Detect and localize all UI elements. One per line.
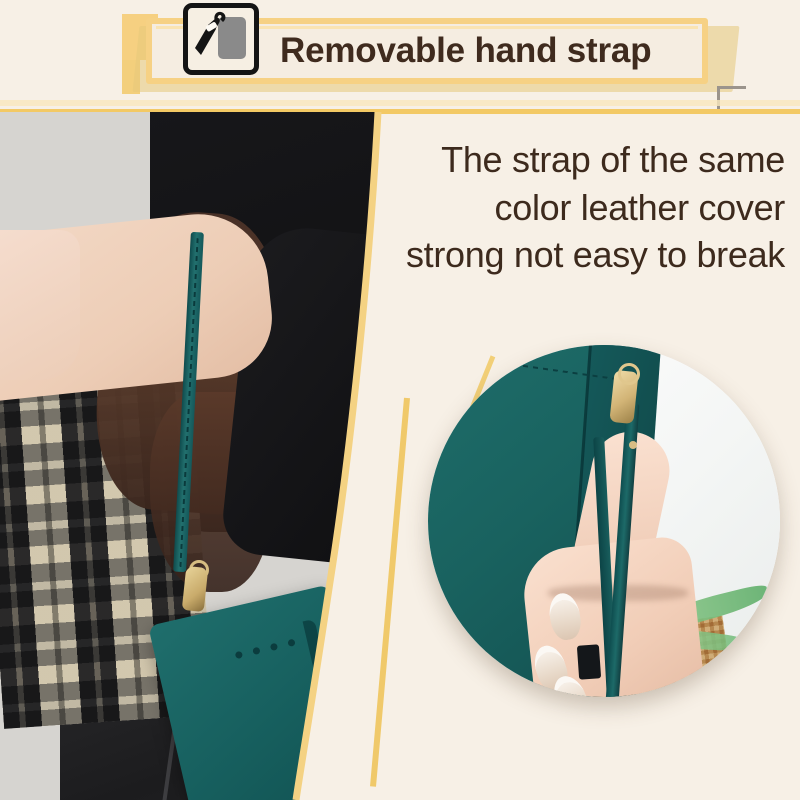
banner-title: Removable hand strap <box>280 20 700 82</box>
corner-bracket-decoration <box>717 86 746 111</box>
banner-underline-soft <box>0 100 800 106</box>
hand-strap-phone-icon <box>183 3 259 75</box>
headline-text: The strap of the same color leather cove… <box>375 136 785 279</box>
strap-rivet <box>629 441 637 449</box>
hand <box>0 230 80 380</box>
headline-line-2: color leather cover <box>375 184 785 232</box>
headline-line-1: The strap of the same <box>375 136 785 184</box>
headline-line-3: strong not easy to break <box>375 231 785 279</box>
gold-clasp <box>182 566 208 612</box>
teal-wallet-case <box>148 585 387 800</box>
header-banner: Removable hand strap <box>0 0 800 120</box>
closeup-hand-holding-teal-case-with-strap <box>428 345 780 697</box>
case-spine <box>303 619 370 800</box>
product-feature-page: Removable hand strap The strap of the s <box>0 0 800 800</box>
gold-diagonal-accent <box>370 398 410 787</box>
model-wearing-teal-wallet-case-on-wrist-strap <box>0 112 420 800</box>
case-camera-slot <box>577 644 601 679</box>
clasp-hook-ring <box>618 363 640 385</box>
